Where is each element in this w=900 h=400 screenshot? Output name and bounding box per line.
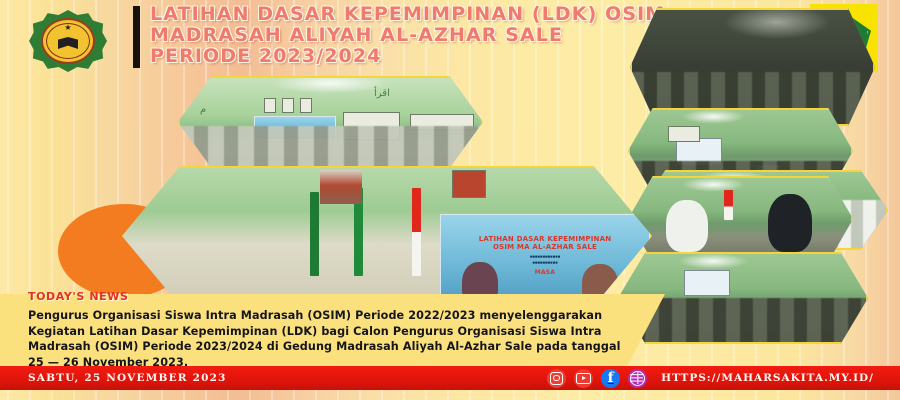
- photo-wall-frame: [300, 98, 312, 113]
- photo-hall-wide: اقرأ م: [178, 76, 483, 168]
- social-links: f: [547, 369, 647, 388]
- photo-handshake: [628, 176, 853, 262]
- photo-flag: [724, 190, 733, 220]
- footer-date: SABTU, 25 NOVEMBER 2023: [28, 372, 227, 384]
- school-logo: ★: [22, 8, 114, 74]
- website-icon[interactable]: [628, 369, 647, 388]
- photo-flag-green-1: [310, 192, 319, 276]
- photo-banner-speakers: LATIHAN DASAR KEPEMIMPINAN OSIM MA AL-AZ…: [122, 166, 652, 306]
- banner-title-line-2: OSIM MA AL-AZHAR SALE: [441, 243, 649, 251]
- poster-root: ★ LATIHAN DASAR KEPEMIMPINAN (LDK) OSIM …: [0, 0, 900, 400]
- news-label: TODAY'S NEWS: [28, 290, 129, 303]
- photo-flag-indonesia: [412, 188, 421, 276]
- photo-collage: اقرأ م: [0, 70, 900, 310]
- banner-title-line-1: LATIHAN DASAR KEPEMIMPINAN: [441, 235, 649, 243]
- school-logo-star-shape: ★: [29, 10, 107, 72]
- school-logo-emblem: ★: [41, 18, 95, 64]
- school-logo-star-icon: ★: [64, 24, 71, 32]
- photo-portrait-frame: [452, 170, 486, 198]
- photo-person: [768, 194, 812, 252]
- photo-wall-frame: [264, 98, 276, 113]
- photo-projector-screen: [684, 270, 730, 296]
- photo-person: [666, 200, 708, 252]
- facebook-icon[interactable]: f: [601, 369, 620, 388]
- photo-arabic-calligraphy: م: [200, 104, 206, 115]
- footer-bar: SABTU, 25 NOVEMBER 2023 f HTTPS://MAHARS…: [0, 366, 900, 390]
- instagram-icon[interactable]: [547, 369, 566, 388]
- photo-audience-rows: [178, 126, 483, 168]
- footer-url[interactable]: HTTPS://MAHARSAKITA.MY.ID/: [661, 372, 874, 384]
- news-body: Pengurus Organisasi Siswa Intra Madrasah…: [28, 304, 628, 370]
- photo-arabic-calligraphy: اقرأ: [374, 88, 390, 99]
- news-block: TODAY'S NEWS Pengurus Organisasi Siswa I…: [0, 304, 680, 370]
- school-logo-book-icon: [58, 37, 78, 49]
- youtube-icon[interactable]: [574, 369, 593, 388]
- title-divider: [133, 6, 140, 68]
- photo-wall-frame: [282, 98, 294, 113]
- facebook-glyph: f: [608, 371, 614, 385]
- photo-thumbnail-small: [320, 170, 362, 204]
- photo-fill: [320, 170, 362, 204]
- photo-window-grill: [668, 126, 700, 142]
- photo-fill: [628, 176, 853, 262]
